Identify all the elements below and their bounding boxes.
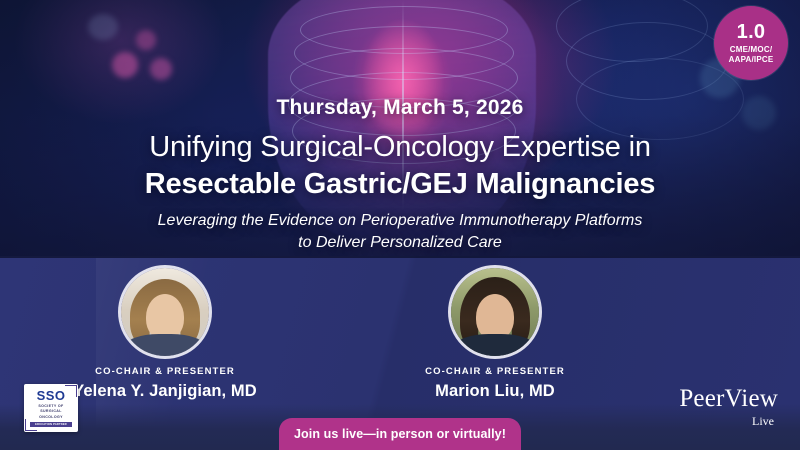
credit-badge-line2: AAPA/IPCE [729,55,774,65]
credit-badge-line1: CME/MOC/ [730,45,773,55]
join-live-button[interactable]: Join us live—in person or virtually! [279,418,521,450]
promotional-poster: 1.0 CME/MOC/ AAPA/IPCE Thursday, March 5… [0,0,800,450]
presenter-role: CO-CHAIR & PRESENTER [345,366,645,377]
event-title-line2: Resectable Gastric/GEJ Malignancies [0,168,800,201]
presenter-role: CO-CHAIR & PRESENTER [15,366,315,377]
avatar [121,268,209,356]
presenter-card: CO-CHAIR & PRESENTER Yelena Y. Janjigian… [15,268,315,401]
peerview-logo-main: PeerView [679,386,778,411]
avatar-shoulders [125,334,205,356]
presenter-list: CO-CHAIR & PRESENTER Yelena Y. Janjigian… [0,268,660,401]
event-subtitle-line2: to Deliver Personalized Care [0,232,800,254]
event-title-line1: Unifying Surgical-Oncology Expertise in [0,131,800,164]
bracket-corner-icon [25,419,37,431]
sso-logo-inner: SSO SOCIETY OF SURGICAL ONCOLOGY EDUCATI… [30,389,72,427]
presenter-name: Marion Liu, MD [345,382,645,401]
event-subtitle: Leveraging the Evidence on Perioperative… [0,210,800,253]
sso-logo: SSO SOCIETY OF SURGICAL ONCOLOGY EDUCATI… [24,384,78,432]
sso-logo-subtitle: SOCIETY OF SURGICAL ONCOLOGY [30,404,72,420]
avatar [451,268,539,356]
peerview-logo-sub: Live [679,415,774,427]
peerview-logo: PeerView Live [679,386,778,427]
presenter-card: CO-CHAIR & PRESENTER Marion Liu, MD [345,268,645,401]
event-subtitle-line1: Leveraging the Evidence on Perioperative… [0,210,800,232]
bracket-corner-icon [65,385,77,397]
credit-badge-value: 1.0 [737,22,766,42]
avatar-shoulders [455,334,535,356]
panel-divider [0,256,800,258]
hero-text-block: Thursday, March 5, 2026 Unifying Surgica… [0,96,800,253]
event-date: Thursday, March 5, 2026 [0,96,800,120]
credit-badge: 1.0 CME/MOC/ AAPA/IPCE [714,6,788,80]
